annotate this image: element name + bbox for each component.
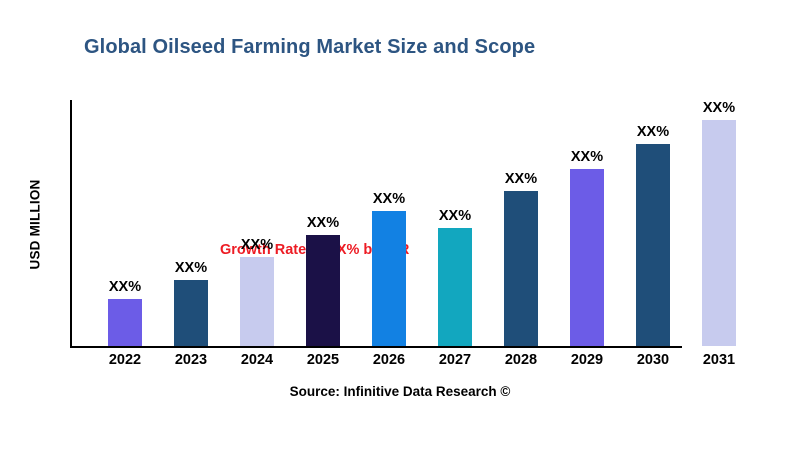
y-axis-label: USD MILLION bbox=[28, 179, 43, 269]
bar-2030[interactable] bbox=[636, 144, 670, 346]
bar-slot: XX% bbox=[356, 100, 422, 346]
plot-area: Growth Rate at XX% by IDR XX%XX%XX%XX%XX… bbox=[70, 100, 730, 348]
bar-value-label-2022: XX% bbox=[92, 279, 158, 295]
bar-slot: XX% bbox=[224, 100, 290, 346]
x-tick-2025: 2025 bbox=[290, 352, 356, 368]
bar-2023[interactable] bbox=[174, 280, 208, 346]
bar-value-label-2028: XX% bbox=[488, 171, 554, 187]
bar-value-label-2024: XX% bbox=[224, 237, 290, 253]
bar-slot: XX% bbox=[92, 100, 158, 346]
bar-slot: XX% bbox=[422, 100, 488, 346]
bar-2022[interactable] bbox=[108, 299, 142, 346]
bar-slot: XX% bbox=[488, 100, 554, 346]
source-note: Source: Infinitive Data Research © bbox=[0, 384, 800, 399]
x-tick-2023: 2023 bbox=[158, 352, 224, 368]
bar-2024[interactable] bbox=[240, 257, 274, 346]
bar-value-label-2030: XX% bbox=[620, 124, 686, 140]
bar-2027[interactable] bbox=[438, 228, 472, 346]
x-tick-2031: 2031 bbox=[686, 352, 752, 368]
bar-slot: XX% bbox=[554, 100, 620, 346]
x-tick-2027: 2027 bbox=[422, 352, 488, 368]
x-tick-2028: 2028 bbox=[488, 352, 554, 368]
x-tick-2026: 2026 bbox=[356, 352, 422, 368]
bar-2029[interactable] bbox=[570, 169, 604, 346]
y-axis-label-wrapper: USD MILLION bbox=[22, 100, 48, 348]
bar-2028[interactable] bbox=[504, 191, 538, 346]
x-tick-2029: 2029 bbox=[554, 352, 620, 368]
bar-slot: XX% bbox=[686, 100, 752, 346]
bar-value-label-2029: XX% bbox=[554, 149, 620, 165]
bar-slot: XX% bbox=[158, 100, 224, 346]
x-tick-2022: 2022 bbox=[92, 352, 158, 368]
chart-container: Global Oilseed Farming Market Size and S… bbox=[0, 0, 800, 450]
x-tick-2024: 2024 bbox=[224, 352, 290, 368]
chart-title: Global Oilseed Farming Market Size and S… bbox=[84, 36, 535, 59]
x-axis-line bbox=[70, 346, 682, 348]
bar-value-label-2023: XX% bbox=[158, 260, 224, 276]
y-axis-line bbox=[70, 100, 72, 348]
bar-value-label-2027: XX% bbox=[422, 208, 488, 224]
bar-value-label-2031: XX% bbox=[686, 100, 752, 116]
x-tick-2030: 2030 bbox=[620, 352, 686, 368]
bar-2031[interactable] bbox=[702, 120, 736, 346]
bar-value-label-2025: XX% bbox=[290, 215, 356, 231]
bar-2025[interactable] bbox=[306, 235, 340, 346]
bar-slot: XX% bbox=[620, 100, 686, 346]
bar-slot: XX% bbox=[290, 100, 356, 346]
bar-value-label-2026: XX% bbox=[356, 191, 422, 207]
bar-2026[interactable] bbox=[372, 211, 406, 346]
